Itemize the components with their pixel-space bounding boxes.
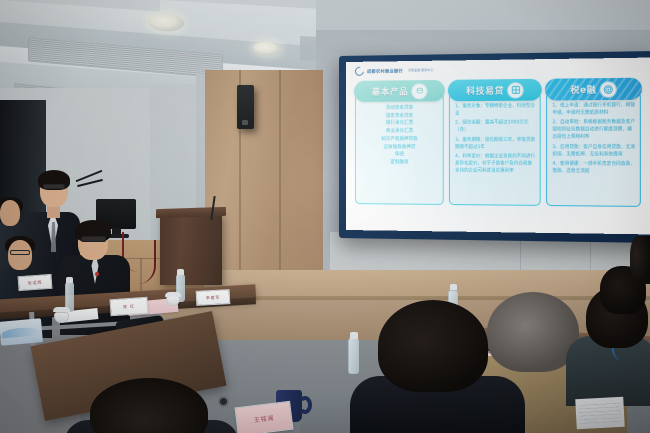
bottle-cap: [350, 332, 358, 339]
attendee-fg-2-head: [378, 300, 488, 392]
bank-sub-name: 普惠金融 服务中心: [408, 69, 433, 73]
bottle-cap: [177, 269, 184, 275]
column-header-pill: 税e融: [545, 78, 642, 101]
paragraph: 2、自动审批：系统根据税务数据及客户授权的征信数据自动进行额度测算，输出授信上限…: [552, 120, 635, 142]
slide-column-tax-e-finance: 税e融 1、线上申请：通过我行手机银行、网银申请，申请时无需纸质材料 2、自动审…: [546, 78, 641, 207]
column-title: 科技易贷: [466, 84, 504, 97]
notebook: [575, 397, 625, 429]
table-caster: [218, 396, 229, 407]
tea-cup-lid: [165, 292, 181, 297]
paragraph: 1、服务对象：专精特新企业、科创型企业: [455, 104, 535, 119]
notebook-lines: [578, 400, 621, 426]
attendee-fg-6-head: [630, 236, 650, 284]
water-bottle: [348, 338, 359, 374]
eyeglasses-icon: [43, 184, 65, 189]
slide-column-tech-easy-loan: 科技易贷 1、服务对象：专精特新企业、科创型企业 2、授信金额：最高不超过100…: [449, 79, 541, 206]
list-item: 保函: [361, 151, 439, 159]
name-placard: 张运辉: [18, 274, 53, 291]
bank-name: 成都农村商业银行: [367, 68, 403, 75]
column-header-pill: 基本产品: [354, 80, 445, 102]
name-placard: 王铭澜: [234, 401, 293, 433]
wood-wall-panel: [205, 70, 323, 300]
column-title: 基本产品: [372, 85, 409, 97]
column-panel: 流动资金贷款 固定资金贷款 银行承兑汇票 商业承兑汇票 知识产权质押贷款 应收账…: [355, 93, 444, 205]
bottle-cap: [66, 277, 73, 283]
grid-window-icon: [508, 83, 523, 98]
lectern: [160, 213, 222, 285]
eyeglasses-icon: [81, 236, 106, 242]
product-list: 流动资金贷款 固定资金贷款 银行承兑汇票 商业承兑汇票 知识产权质押贷款 应收账…: [361, 104, 439, 167]
column-title: 税e融: [570, 83, 596, 96]
list-item: 定制融资: [361, 159, 439, 167]
paragraph: 2、授信金额：最高不超过1000万元（含）: [455, 121, 535, 136]
placard-text: 陈 红: [123, 303, 135, 310]
list-item: 银行承兑汇票: [361, 120, 439, 128]
presentation-slide: 成都农村商业银行 普惠金融 服务中心 基本产品: [346, 58, 650, 235]
placard-text: 李建军: [206, 294, 221, 301]
slide-columns: 基本产品 流动资金贷款 固定资金贷款 银行承兑汇票: [351, 72, 645, 210]
target-icon: [601, 82, 616, 97]
name-placard: 李建军: [196, 289, 231, 306]
name-placard: 陈 红: [109, 297, 148, 317]
tea-cup-lid: [53, 307, 70, 312]
paragraph: 4、利率定价：根据企业资质的不同进行差异化定价，对于子质客户及符合政策支持的企业…: [455, 154, 535, 176]
conference-room-photo: 成都农村商业银行 普惠金融 服务中心 基本产品: [0, 0, 650, 433]
placard-text: 张运辉: [28, 279, 43, 286]
list-item: 知识产权质押贷款: [361, 136, 439, 144]
head: [8, 240, 32, 270]
speaker-badge: [242, 120, 248, 125]
paragraph: 3、服务期限：授信期限三年，单笔贷款期限不超过1年: [455, 138, 535, 152]
bottle-cap: [450, 284, 457, 290]
eyeglasses-icon: [10, 250, 30, 255]
list-item: 应收账款质押贷: [361, 143, 439, 151]
column-header-pill: 科技易贷: [448, 79, 542, 101]
lapel-pin-icon: [95, 272, 99, 276]
coins-icon: [412, 84, 426, 98]
column-panel: 1、线上申请：通过我行手机银行、网银申请，申请时无需纸质材料 2、自动审批：系统…: [546, 91, 641, 207]
head: [0, 200, 20, 226]
paragraph: 4、使用便捷：一部手机签定合同放款、借款、还款全流程: [552, 162, 635, 177]
placard-text: 王铭澜: [253, 413, 274, 424]
paragraph: 3、信用贷款：客户自身信用贷款，无须担保、无需抵押、无信利其他费用: [552, 145, 635, 160]
column-panel: 1、服务对象：专精特新企业、科创型企业 2、授信金额：最高不超过1000万元（含…: [449, 92, 541, 206]
slide-column-basic-products: 基本产品 流动资金贷款 固定资金贷款 银行承兑汇票: [355, 80, 444, 205]
paragraph: 1、线上申请：通过我行手机银行、网银申请，申请时无需纸质材料: [552, 103, 635, 118]
panel-seam: [279, 70, 281, 300]
list-item: 商业承兑汇票: [361, 128, 439, 136]
mug-handle: [298, 396, 312, 414]
display-screen[interactable]: 成都农村商业银行 普惠金融 服务中心 基本产品: [346, 58, 650, 235]
